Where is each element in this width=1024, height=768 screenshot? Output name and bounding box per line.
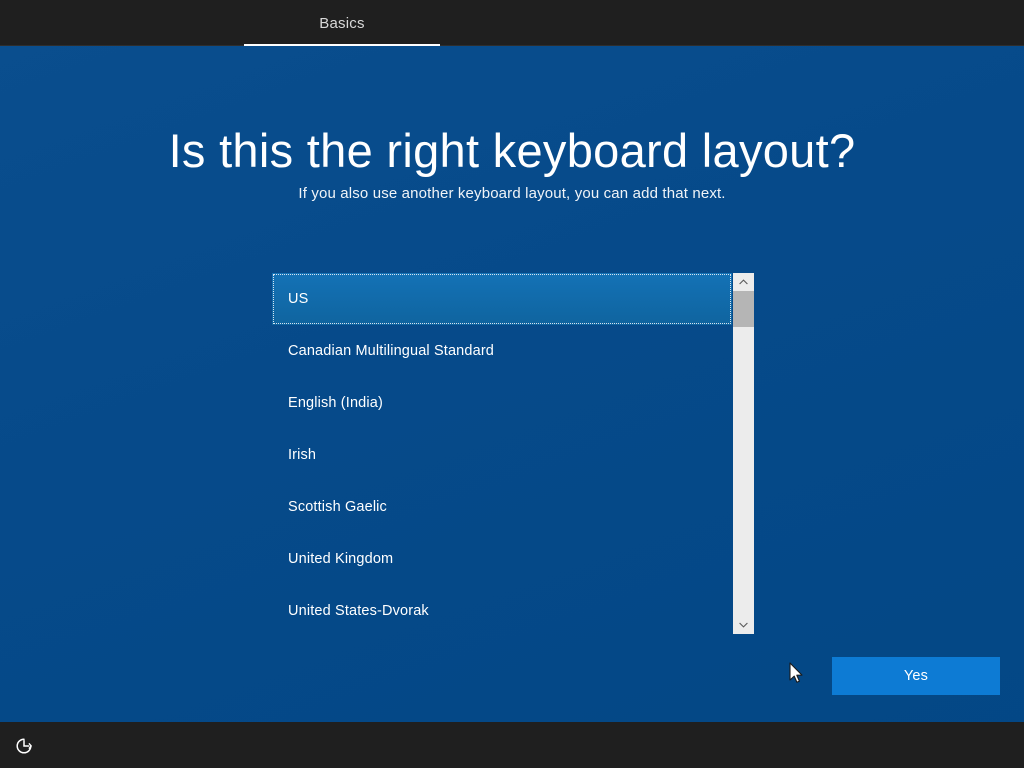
tab-active-indicator bbox=[244, 44, 440, 46]
bottom-bar bbox=[0, 722, 1024, 768]
list-item[interactable]: US bbox=[272, 273, 732, 325]
list-item[interactable]: United States-Dvorak bbox=[272, 585, 732, 634]
list-item[interactable]: English (India) bbox=[272, 377, 732, 429]
list-item[interactable]: Scottish Gaelic bbox=[272, 481, 732, 533]
yes-button[interactable]: Yes bbox=[832, 657, 1000, 695]
tab-basics[interactable]: Basics bbox=[244, 0, 440, 46]
list-item-label: United Kingdom bbox=[288, 551, 393, 567]
scroll-down-button[interactable] bbox=[733, 616, 754, 634]
page-subtitle: If you also use another keyboard layout,… bbox=[0, 185, 1024, 202]
list-item[interactable]: Canadian Multilingual Standard bbox=[272, 325, 732, 377]
list-scrollbar[interactable] bbox=[733, 273, 754, 634]
list-item-label: English (India) bbox=[288, 395, 383, 411]
scrollbar-thumb[interactable] bbox=[733, 291, 754, 327]
list-item[interactable]: Irish bbox=[272, 429, 732, 481]
ease-of-access-icon[interactable] bbox=[12, 734, 36, 758]
list-item-label: Irish bbox=[288, 447, 316, 463]
oobe-screen: Basics Is this the right keyboard layout… bbox=[0, 0, 1024, 768]
title-bar bbox=[0, 0, 1024, 46]
keyboard-layout-list[interactable]: US Canadian Multilingual Standard Englis… bbox=[272, 273, 732, 634]
chevron-down-icon bbox=[739, 622, 748, 628]
tab-basics-label: Basics bbox=[319, 15, 364, 32]
chevron-up-icon bbox=[739, 279, 748, 285]
scroll-up-button[interactable] bbox=[733, 273, 754, 291]
list-item-label: US bbox=[288, 291, 308, 307]
keyboard-layout-listbox[interactable]: US Canadian Multilingual Standard Englis… bbox=[272, 273, 754, 634]
mouse-cursor-icon bbox=[789, 662, 805, 686]
page-title: Is this the right keyboard layout? bbox=[0, 122, 1024, 180]
list-item[interactable]: United Kingdom bbox=[272, 533, 732, 585]
list-item-label: United States-Dvorak bbox=[288, 603, 429, 619]
list-item-label: Canadian Multilingual Standard bbox=[288, 343, 494, 359]
list-item-label: Scottish Gaelic bbox=[288, 499, 387, 515]
